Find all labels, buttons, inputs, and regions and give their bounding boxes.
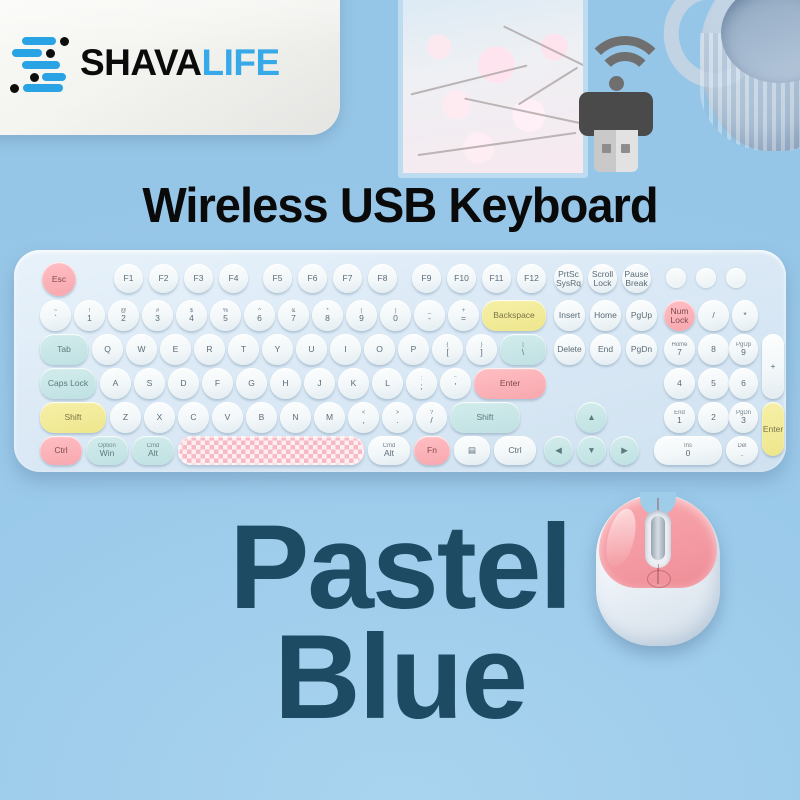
key-legend-main: F2 [159, 274, 169, 283]
key-legend-top: & [291, 308, 295, 314]
key-[interactable]: {[ [432, 334, 463, 365]
key-f8[interactable]: F8 [368, 264, 397, 293]
key-7[interactable]: &7 [278, 300, 309, 331]
key-f6[interactable]: F6 [298, 264, 327, 293]
key-legend-main: E [173, 345, 179, 354]
key-a[interactable]: A [100, 368, 131, 399]
key-legend-main: J [317, 379, 321, 388]
key-legend-main: PrtSc SysRq [554, 270, 583, 288]
key-delete[interactable]: Delete [554, 334, 585, 365]
key-legend-top: Cmd [383, 443, 396, 449]
key-legend-top: ! [89, 308, 91, 314]
key-ctrl[interactable]: Ctrl [494, 436, 536, 465]
key-6[interactable]: 6 [729, 368, 758, 399]
key-legend-main: , [362, 416, 364, 425]
key-legend-top: " [454, 376, 456, 382]
key-f1[interactable]: F1 [114, 264, 143, 293]
key-caps-lock[interactable]: Caps Lock [40, 368, 96, 399]
key-legend-top: < [362, 410, 366, 416]
key-legend-main: ; [420, 382, 422, 391]
key-legend-main: Home [594, 311, 617, 320]
key-legend-main: . [741, 449, 743, 458]
key-legend-main: = [461, 314, 466, 323]
key-bottom-row[interactable] [178, 436, 364, 465]
key-enter[interactable]: Enter [762, 402, 784, 456]
key-legend-top: | [522, 342, 524, 348]
key-legend-main: 1 [677, 416, 682, 425]
key-u[interactable]: U [296, 334, 327, 365]
key-legend-main: ] [480, 348, 482, 357]
key-legend-main: + [771, 362, 776, 371]
key-j[interactable]: J [304, 368, 335, 399]
key-0[interactable]: )0 [380, 300, 411, 331]
key-[interactable]: + [762, 334, 784, 399]
key-c[interactable]: C [178, 402, 209, 433]
key-enter[interactable]: Enter [474, 368, 546, 399]
key-[interactable]: "' [440, 368, 471, 399]
key-legend-top: Cmd [147, 443, 160, 449]
key-f5[interactable]: F5 [263, 264, 292, 293]
key-legend-main: F7 [343, 274, 353, 283]
key-legend-main: F4 [229, 274, 239, 283]
key-4[interactable]: 4 [664, 368, 695, 399]
key-legend-top: $ [190, 308, 193, 314]
brand-logo[interactable]: SHAVALIFE [8, 28, 308, 98]
usb-wireless-dongle-icon [564, 30, 684, 170]
ribbed-ceramic-mug [700, 0, 800, 151]
key-1[interactable]: !1 [74, 300, 105, 331]
key-legend-main: 6 [741, 379, 746, 388]
key-legend-main: Ctrl [508, 446, 521, 455]
key-legend-main: N [292, 413, 298, 422]
key-9[interactable]: PgUp9 [729, 334, 758, 365]
key-legend-main: P [411, 345, 417, 354]
key-legend-main: ◀ [555, 446, 562, 455]
key-legend-main: Enter [763, 425, 783, 434]
key-legend-main: F3 [194, 274, 204, 283]
variant-line-1: Pastel [0, 512, 800, 622]
key-1[interactable]: End1 [664, 402, 695, 433]
key-num-lock[interactable]: Num Lock [664, 300, 695, 331]
key-f2[interactable]: F2 [149, 264, 178, 293]
key-f[interactable]: F [202, 368, 233, 399]
key-ctrl[interactable]: Ctrl [40, 436, 82, 465]
key-legend-main: 5 [711, 379, 716, 388]
key-[interactable]: <, [348, 402, 379, 433]
key-pause-break[interactable]: Pause Break [622, 264, 651, 293]
key-backspace[interactable]: Backspace [482, 300, 546, 331]
key-legend-top: * [326, 308, 328, 314]
key-legend-top: PgDn [736, 410, 751, 416]
key-legend-main: F [215, 379, 220, 388]
key-legend-top: > [396, 410, 400, 416]
key-[interactable]: _- [414, 300, 445, 331]
key-legend-main: 2 [711, 413, 716, 422]
key-legend-main: 1 [87, 314, 92, 323]
key-legend-main: F6 [308, 274, 318, 283]
key-legend-top: : [421, 376, 423, 382]
key-[interactable]: |\ [500, 334, 546, 365]
key-home[interactable]: Home [590, 300, 621, 331]
motion-bars-icon [8, 35, 70, 91]
dongle-usb-plug [594, 130, 638, 172]
key-[interactable]: }] [466, 334, 497, 365]
key-legend-top: # [156, 308, 159, 314]
key-legend-main: 9 [359, 314, 364, 323]
key-l[interactable]: L [372, 368, 403, 399]
key-legend-main: [ [446, 348, 448, 357]
key-9[interactable]: (9 [346, 300, 377, 331]
key-w[interactable]: W [126, 334, 157, 365]
product-banner: SHAVALIFE Wireless USB Keyboard EscF1F2F… [0, 0, 800, 800]
key-function-row[interactable] [696, 268, 716, 288]
key-shift[interactable]: Shift [450, 402, 520, 433]
key-legend-main: F12 [524, 274, 539, 283]
key-function-row[interactable] [666, 268, 686, 288]
key-legend-main: Caps Lock [48, 379, 88, 388]
key-legend-main: W [137, 345, 145, 354]
key-f7[interactable]: F7 [333, 264, 362, 293]
key-legend-top: ( [361, 308, 363, 314]
key-shift[interactable]: Shift [40, 402, 106, 433]
key-legend-main: K [351, 379, 357, 388]
key-legend-main: Alt [148, 449, 158, 458]
key-legend-main: 8 [711, 345, 716, 354]
key-0[interactable]: Ins0 [654, 436, 722, 465]
key-[interactable]: += [448, 300, 479, 331]
key-legend-main: I [344, 345, 346, 354]
key-legend-main: 0 [393, 314, 398, 323]
key-z[interactable]: Z [110, 402, 141, 433]
variant-line-2: Blue [0, 622, 800, 732]
key-g[interactable]: G [236, 368, 267, 399]
key-legend-main: 3 [741, 416, 746, 425]
key-2[interactable]: @2 [108, 300, 139, 331]
key-[interactable]: ▤ [454, 436, 490, 465]
key-legend-top: ^ [258, 308, 261, 314]
key-legend-main: A [113, 379, 119, 388]
key-legend-main: V [225, 413, 231, 422]
key-alt[interactable]: CmdAlt [368, 436, 410, 465]
key-legend-top: + [462, 308, 466, 314]
key-legend-main: F1 [124, 274, 134, 283]
key-[interactable]: Del. [726, 436, 758, 465]
key-legend-main: 4 [677, 379, 682, 388]
key-legend-main: Insert [559, 311, 580, 320]
key-legend-top: PgUp [736, 342, 751, 348]
key-legend-main: F10 [454, 274, 469, 283]
key-6[interactable]: ^6 [244, 300, 275, 331]
plug-hole [602, 144, 611, 153]
key-legend-main: Shift [64, 413, 81, 422]
keyboard-body: EscF1F2F3F4F5F6F7F8F9F10F11F12PrtSc SysR… [14, 250, 786, 472]
key-legend-main: U [308, 345, 314, 354]
branch [418, 132, 577, 156]
key-8[interactable]: 8 [698, 334, 729, 365]
key-legend-main: O [376, 345, 383, 354]
key-[interactable]: ~` [40, 300, 71, 331]
logo-text-secondary: LIFE [202, 42, 280, 83]
key-5[interactable]: %5 [210, 300, 241, 331]
key-legend-top: End [674, 410, 685, 416]
key-win[interactable]: OptionWin [86, 436, 128, 465]
branch [411, 65, 528, 96]
key-legend-main: Esc [52, 275, 66, 284]
key-legend-main: Enter [500, 379, 520, 388]
key-legend-main: 7 [291, 314, 296, 323]
key-p[interactable]: P [398, 334, 429, 365]
key-legend-main: Delete [557, 345, 582, 354]
key-s[interactable]: S [134, 368, 165, 399]
key-q[interactable]: Q [92, 334, 123, 365]
key-legend-main: 8 [325, 314, 330, 323]
key-end[interactable]: End [590, 334, 621, 365]
plug-hole [621, 144, 630, 153]
key-t[interactable]: T [228, 334, 259, 365]
keyboard-keys: EscF1F2F3F4F5F6F7F8F9F10F11F12PrtSc SysR… [14, 250, 786, 472]
key-legend-top: _ [428, 308, 431, 314]
key-alt[interactable]: CmdAlt [132, 436, 174, 465]
key-legend-main: . [396, 416, 398, 425]
key-n[interactable]: N [280, 402, 311, 433]
key-8[interactable]: *8 [312, 300, 343, 331]
key-m[interactable]: M [314, 402, 345, 433]
key-f10[interactable]: F10 [447, 264, 476, 293]
key-d[interactable]: D [168, 368, 199, 399]
key-function-row[interactable] [726, 268, 746, 288]
key-legend-main: L [385, 379, 390, 388]
key-pgup[interactable]: PgUp [626, 300, 657, 331]
key-[interactable]: ?/ [416, 402, 447, 433]
key-[interactable]: ◀ [544, 436, 573, 465]
key-legend-main: 7 [677, 348, 682, 357]
key-legend-top: % [223, 308, 228, 314]
key-f3[interactable]: F3 [184, 264, 213, 293]
key-k[interactable]: K [338, 368, 369, 399]
key-legend-main: F9 [422, 274, 432, 283]
key-legend-main: 5 [223, 314, 228, 323]
key-[interactable]: :; [406, 368, 437, 399]
key-legend-top: { [446, 342, 448, 348]
key-legend-main: ▤ [468, 446, 476, 455]
cherry-blossom-photo [398, 0, 588, 178]
key-legend-main: Z [123, 413, 128, 422]
key-legend-main: Pause Break [622, 270, 651, 288]
key-legend-main: X [157, 413, 163, 422]
key-legend-main: D [180, 379, 186, 388]
key-legend-main: \ [522, 348, 524, 357]
key-2[interactable]: 2 [698, 402, 729, 433]
key-legend-top: ~ [54, 308, 58, 314]
key-[interactable]: * [732, 300, 758, 331]
key-legend-main: ' [455, 382, 457, 391]
key-legend-main: 2 [121, 314, 126, 323]
logo-text-primary: SHAVA [80, 42, 202, 83]
key-legend-top: ) [395, 308, 397, 314]
key-legend-main: M [326, 413, 333, 422]
key-5[interactable]: 5 [698, 368, 729, 399]
key-legend-main: 4 [189, 314, 194, 323]
key-legend-main: Tab [57, 345, 71, 354]
variant-name: Pastel Blue [0, 512, 800, 733]
key-legend-main: ▶ [621, 446, 628, 455]
key-legend-main: ` [54, 314, 57, 323]
key-f4[interactable]: F4 [219, 264, 248, 293]
key-legend-main: - [428, 314, 431, 323]
key-legend-main: 0 [686, 449, 691, 458]
key-legend-main: Q [104, 345, 111, 354]
key-legend-top: ? [430, 410, 433, 416]
key-4[interactable]: $4 [176, 300, 207, 331]
key-f11[interactable]: F11 [482, 264, 511, 293]
key-v[interactable]: V [212, 402, 243, 433]
key-legend-main: S [147, 379, 153, 388]
key-legend-main: / [430, 416, 432, 425]
key-legend-top: Ins [684, 443, 692, 449]
key-legend-main: F5 [273, 274, 283, 283]
key-legend-main: G [248, 379, 255, 388]
key-pgdn[interactable]: PgDn [626, 334, 657, 365]
key-fn[interactable]: Fn [414, 436, 450, 465]
key-legend-main: B [259, 413, 265, 422]
key-insert[interactable]: Insert [554, 300, 585, 331]
key-3[interactable]: PgDn3 [729, 402, 758, 433]
key-b[interactable]: B [246, 402, 277, 433]
key-f12[interactable]: F12 [517, 264, 546, 293]
key-legend-main: 9 [741, 348, 746, 357]
key-legend-main: End [598, 345, 613, 354]
key-legend-top: Home [671, 342, 687, 348]
key-legend-main: Shift [476, 413, 493, 422]
key-tab[interactable]: Tab [40, 334, 88, 365]
key-legend-main: R [206, 345, 212, 354]
key-legend-main: 6 [257, 314, 262, 323]
key-prtsc-sysrq[interactable]: PrtSc SysRq [554, 264, 583, 293]
key-legend-main: T [241, 345, 246, 354]
key-[interactable]: ▶ [610, 436, 639, 465]
key-i[interactable]: I [330, 334, 361, 365]
key-esc[interactable]: Esc [42, 262, 76, 296]
key-legend-top: } [480, 342, 482, 348]
key-legend-main: PgUp [631, 311, 652, 320]
logo-wordmark: SHAVALIFE [80, 42, 280, 84]
key-legend-main: Win [100, 449, 115, 458]
wifi-dot [609, 76, 624, 91]
key-legend-main: / [712, 311, 714, 320]
key-[interactable]: >. [382, 402, 413, 433]
key-h[interactable]: H [270, 368, 301, 399]
key-legend-top: Del [737, 443, 746, 449]
key-legend-main: Scroll Lock [588, 270, 617, 288]
key-x[interactable]: X [144, 402, 175, 433]
key-legend-main: F11 [489, 274, 503, 283]
key-y[interactable]: Y [262, 334, 293, 365]
key-[interactable]: ▲ [576, 402, 607, 433]
key-r[interactable]: R [194, 334, 225, 365]
page-title: Wireless USB Keyboard [16, 178, 784, 234]
key-legend-main: H [282, 379, 288, 388]
key-legend-main: F8 [378, 274, 388, 283]
key-3[interactable]: #3 [142, 300, 173, 331]
key-o[interactable]: O [364, 334, 395, 365]
key-legend-main: Fn [427, 446, 437, 455]
key-legend-main: Y [275, 345, 281, 354]
key-f9[interactable]: F9 [412, 264, 441, 293]
key-legend-main: Alt [384, 449, 394, 458]
key-legend-main: Ctrl [54, 446, 67, 455]
key-legend-main: ▼ [587, 446, 595, 455]
key-legend-main: ▲ [587, 413, 595, 422]
key-legend-main: Num Lock [664, 307, 695, 325]
key-[interactable]: ▼ [577, 436, 606, 465]
key-[interactable]: / [698, 300, 729, 331]
key-legend-top: Option [98, 443, 116, 449]
key-7[interactable]: Home7 [664, 334, 695, 365]
key-legend-main: C [190, 413, 196, 422]
key-scroll-lock[interactable]: Scroll Lock [588, 264, 617, 293]
key-legend-main: * [743, 311, 746, 320]
key-legend-main: PgDn [631, 345, 652, 354]
key-e[interactable]: E [160, 334, 191, 365]
key-legend-main: 3 [155, 314, 160, 323]
key-legend-top: @ [120, 308, 126, 314]
key-legend-main: Backspace [493, 311, 535, 320]
